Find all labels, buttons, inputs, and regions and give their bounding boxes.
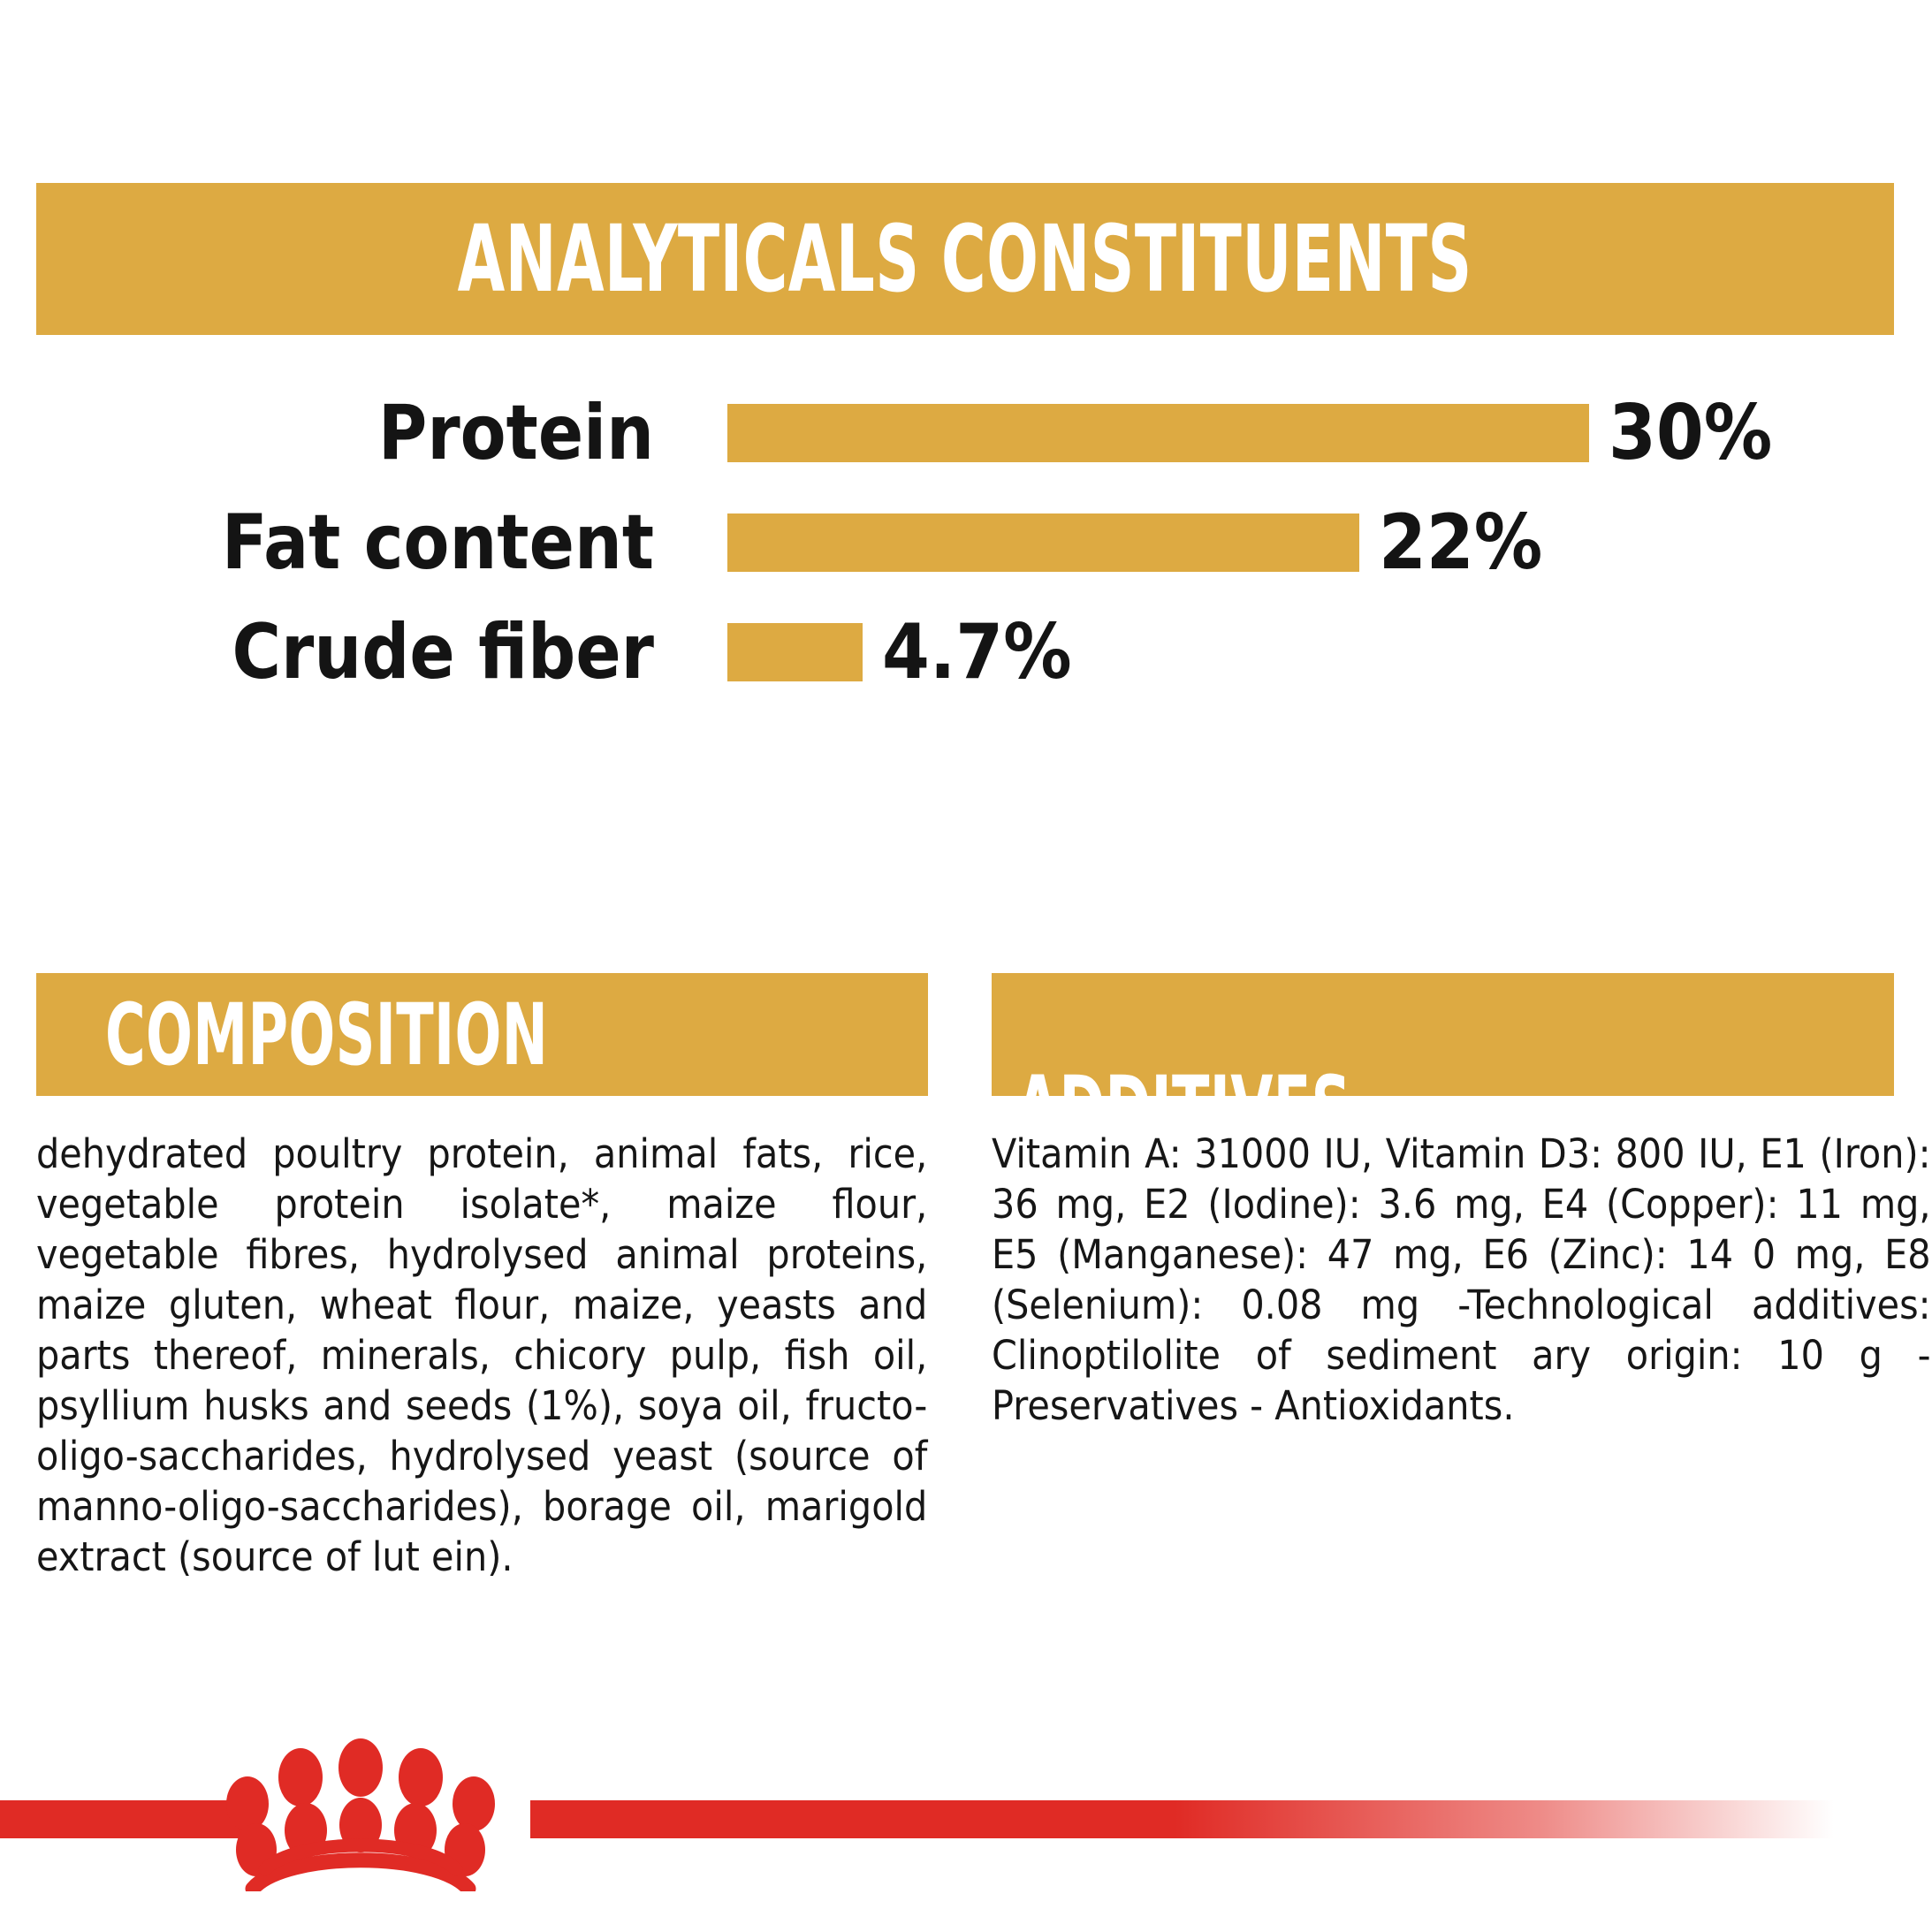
chart-label-crude-fiber: Crude fiber	[79, 614, 654, 690]
chart-bar-protein	[727, 404, 1589, 462]
analyticals-title: ANALYTICALS CONSTITUENTS	[458, 213, 1472, 305]
chart-bar-fat-content	[727, 513, 1359, 572]
additives-body-text: Vitamin A: 31000 IU, Vitamin D3: 800 IU,…	[992, 1129, 1931, 1431]
chart-bar-wrap-crude-fiber: 4.7%	[727, 599, 1932, 705]
chart-row-crude-fiber: Crude fiber 4.7%	[0, 599, 1932, 705]
chart-bar-crude-fiber	[727, 623, 863, 681]
analyticals-bar-chart: Protein 30% Fat content 22% Crude fiber …	[0, 380, 1932, 734]
brand-footer	[0, 1728, 1932, 1932]
chart-bar-wrap-fat-content: 22%	[727, 490, 1932, 596]
nutrition-panel: ANALYTICALS CONSTITUENTS Protein 30% Fat…	[0, 0, 1932, 1932]
composition-body-text: dehydrated poultry protein, animal fats,…	[36, 1129, 927, 1582]
chart-value-protein: 30%	[1609, 395, 1772, 471]
chart-value-crude-fiber: 4.7%	[882, 614, 1072, 690]
composition-banner: COMPOSITION	[36, 973, 928, 1096]
composition-title: COMPOSITION	[105, 993, 548, 1077]
royal-canin-crown-paw-logo	[202, 1728, 520, 1891]
chart-label-protein: Protein	[79, 395, 654, 471]
analyticals-banner: ANALYTICALS CONSTITUENTS	[36, 183, 1894, 335]
chart-row-protein: Protein 30%	[0, 380, 1932, 486]
brand-rule-right	[530, 1800, 1932, 1838]
chart-row-fat-content: Fat content 22%	[0, 490, 1932, 596]
chart-bar-wrap-protein: 30%	[727, 380, 1932, 486]
chart-label-fat-content: Fat content	[79, 505, 654, 581]
chart-value-fat-content: 22%	[1379, 505, 1542, 581]
additives-banner: ADDITIVES (per kg)	[992, 973, 1894, 1096]
